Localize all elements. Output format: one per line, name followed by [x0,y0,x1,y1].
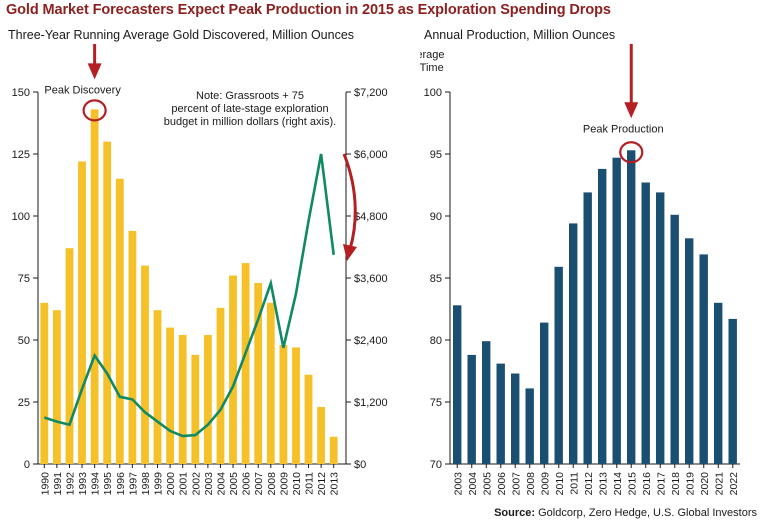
bar [129,231,137,464]
right-x-tick: 2009 [539,472,551,496]
right-x-tick: 2010 [554,472,566,496]
bar [613,158,621,464]
right-x-tick: 2022 [728,472,740,496]
grassroots-note-line: budget in million dollars (right axis). [164,116,336,128]
right-chart-panel: 7075808590951002003200420052006200720082… [420,44,765,514]
grassroots-note-line: Note: Grassroots + 75 [196,90,304,102]
exploration-spending-line [44,154,333,436]
bar [53,310,61,464]
bar [330,437,338,464]
grassroots-note-line: percent of late-stage exploration [171,103,328,115]
right-x-tick: 2005 [481,472,493,496]
peak-production-arrow-head [624,102,638,118]
left-y2-tick: $2,400 [354,335,388,347]
right-y-tick: 90 [430,211,442,223]
bar [511,374,519,465]
right-y-tick: 70 [430,459,442,471]
bar [154,310,162,464]
bar [116,179,124,464]
left-x-tick: 2003 [203,472,215,496]
bar [66,248,74,464]
right-x-tick: 2014 [612,472,624,496]
bar [482,341,490,464]
right-chart-svg: 7075808590951002003200420052006200720082… [420,44,765,514]
dev-time-label-line2: Development Time [420,62,444,74]
bar [598,169,606,464]
left-chart-subtitle: Three-Year Running Average Gold Discover… [8,28,354,42]
left-y-tick: 25 [18,397,30,409]
right-x-tick: 2021 [713,472,725,496]
right-x-tick: 2006 [496,472,508,496]
left-y-tick: 100 [12,211,30,223]
left-y2-tick: $7,200 [354,87,388,99]
source-note: Source: Goldcorp, Zero Hedge, U.S. Globa… [494,507,757,519]
right-x-tick: 2016 [641,472,653,496]
bar [526,388,534,464]
left-x-tick: 1996 [115,472,127,496]
bar [292,347,300,464]
bar [555,267,563,464]
spending-drop-arrow-head [343,244,357,261]
bar [714,303,722,464]
bar [166,328,174,464]
right-x-tick: 2018 [670,472,682,496]
peak-production-label: Peak Production [583,123,664,135]
left-y2-tick: $3,600 [354,273,388,285]
left-x-tick: 2011 [304,472,316,495]
bar [453,305,461,464]
left-y-tick: 0 [24,459,30,471]
right-x-tick: 2013 [597,472,609,496]
left-x-tick: 1995 [102,472,114,496]
bar [40,303,48,464]
left-x-tick: 1997 [127,472,139,496]
left-x-tick: 1994 [90,472,102,496]
bar [584,192,592,464]
bar [78,161,86,464]
bar [267,303,275,464]
right-y-tick: 80 [430,335,442,347]
right-x-tick: 2007 [510,472,522,496]
bar [642,183,650,465]
left-y-tick: 50 [18,335,30,347]
dev-time-label-line1: +20 Years Average [420,49,444,61]
left-x-tick: 2004 [215,472,227,496]
bar [540,323,548,464]
bar [179,335,187,464]
left-x-tick: 1999 [153,472,165,496]
right-chart-subtitle: Annual Production, Million Ounces [424,28,615,42]
left-x-tick: 1998 [140,472,152,496]
left-chart-panel: 0255075100125150$0$1,200$2,400$3,600$4,8… [0,44,420,514]
bar [569,223,577,464]
bar [729,319,737,464]
left-x-tick: 2009 [278,472,290,496]
bar [280,345,288,464]
left-x-tick: 2010 [291,472,303,496]
left-y-tick: 125 [12,149,30,161]
bar [91,109,99,464]
left-y2-tick: $0 [354,459,366,471]
bar [317,407,325,464]
left-x-tick: 2001 [178,472,190,496]
bar [700,254,708,464]
right-x-tick: 2003 [452,472,464,496]
right-x-tick: 2020 [699,472,711,496]
left-x-tick: 1992 [64,472,76,496]
page-title: Gold Market Forecasters Expect Peak Prod… [6,2,611,18]
left-chart-svg: 0255075100125150$0$1,200$2,400$3,600$4,8… [0,44,420,514]
left-x-tick: 2002 [190,472,202,496]
left-x-tick: 2007 [253,472,265,496]
right-x-tick: 2019 [684,472,696,496]
left-x-tick: 1991 [52,472,64,496]
right-x-tick: 2008 [525,472,537,496]
right-y-tick: 85 [430,273,442,285]
source-text: Goldcorp, Zero Hedge, U.S. Global Invest… [538,507,757,519]
right-x-tick: 2004 [467,472,479,496]
source-label: Source: [494,507,535,519]
left-x-tick: 2013 [329,472,341,496]
left-y2-tick: $1,200 [354,397,388,409]
left-x-tick: 1993 [77,472,89,496]
peak-discovery-arrow-head [88,63,102,79]
right-x-tick: 2012 [583,472,595,496]
left-y2-tick: $4,800 [354,211,388,223]
bar [656,192,664,464]
bar [468,355,476,464]
bar [685,238,693,464]
right-y-tick: 95 [430,149,442,161]
left-x-tick: 2008 [266,472,278,496]
peak-discovery-label: Peak Discovery [44,84,121,96]
bar [103,142,111,464]
left-y-tick: 75 [18,273,30,285]
right-y-tick: 75 [430,397,442,409]
left-x-tick: 2005 [228,472,240,496]
left-x-tick: 2000 [165,472,177,496]
bar [627,150,635,464]
bar [191,355,199,464]
left-x-tick: 2012 [316,472,328,496]
right-y-tick: 100 [424,87,442,99]
left-x-tick: 1990 [39,472,51,496]
bar [204,335,212,464]
bar [497,364,505,464]
left-x-tick: 2006 [241,472,253,496]
left-y2-tick: $6,000 [354,149,388,161]
right-x-tick: 2011 [568,472,580,495]
right-x-tick: 2017 [655,472,667,496]
bar [671,215,679,464]
right-x-tick: 2015 [626,472,638,496]
bar [229,276,237,465]
bar [305,375,313,464]
left-y-tick: 150 [12,87,30,99]
bar [141,266,149,464]
bar [217,308,225,464]
